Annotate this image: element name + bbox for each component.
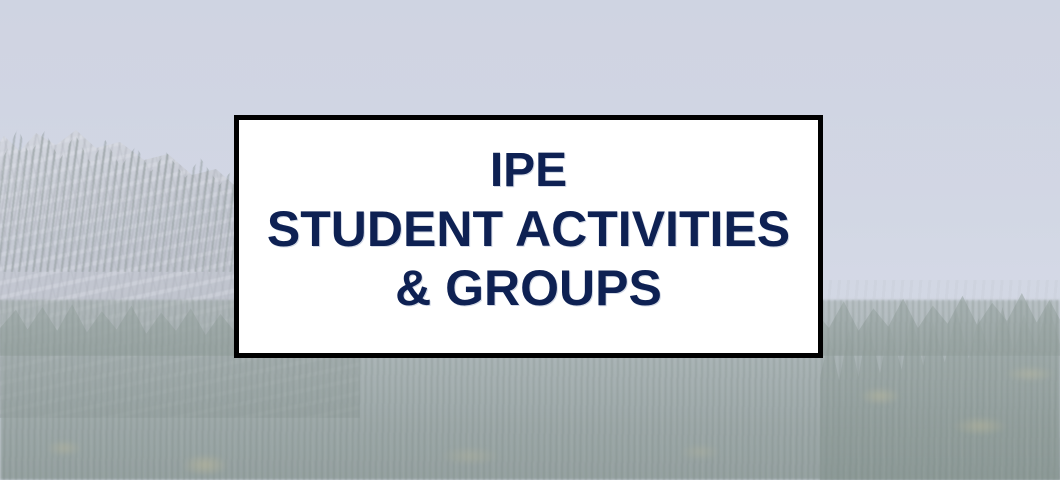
title-text-block: IPE STUDENT ACTIVITIES & GROUPS: [239, 141, 818, 332]
banner: IPE STUDENT ACTIVITIES & GROUPS: [0, 0, 1060, 480]
title-card: IPE STUDENT ACTIVITIES & GROUPS: [234, 115, 823, 358]
title-line-2: STUDENT ACTIVITIES: [239, 200, 818, 259]
title-line-1: IPE: [239, 141, 818, 200]
title-line-3: & GROUPS: [239, 259, 818, 318]
